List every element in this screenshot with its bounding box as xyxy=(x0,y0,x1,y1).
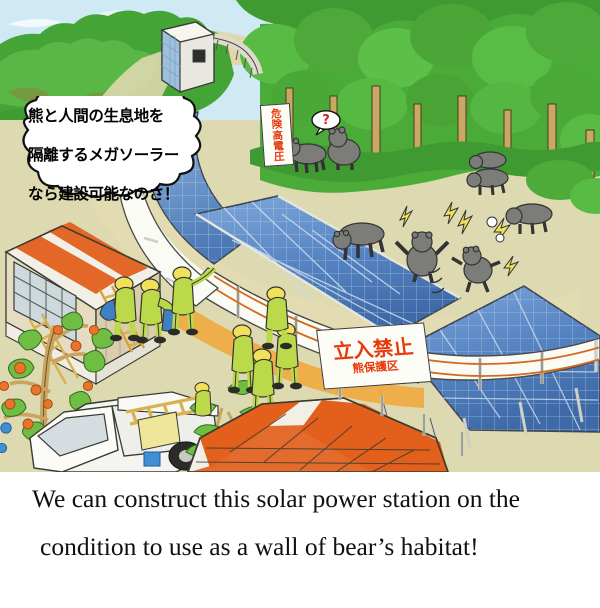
speech-line-2: 隔離するメガソーラー xyxy=(28,147,208,163)
bear-question-bubble: ? xyxy=(311,110,341,136)
high-voltage-sign-face: 危険 高電圧 xyxy=(260,103,294,167)
no-entry-sign-sub-text: 熊保護区 xyxy=(352,361,399,376)
cartoon-page: 熊と人間の生息地を 隔離するメガソーラー なら建設可能なのさ！ ? 立入禁止 熊… xyxy=(0,0,600,608)
caption-line-1: We can construct this solar power statio… xyxy=(32,486,582,512)
right-dense-forest xyxy=(236,0,600,214)
cartoon-illustration: 熊と人間の生息地を 隔離するメガソーラー なら建設可能なのさ！ ? 立入禁止 熊… xyxy=(0,0,600,472)
english-caption: We can construct this solar power statio… xyxy=(0,472,600,608)
speech-line-3: なら建設可能なのさ！ xyxy=(28,186,208,202)
question-mark-text: ? xyxy=(311,110,341,131)
no-entry-sign-main-text: 立入禁止 xyxy=(332,337,415,362)
high-voltage-line-1: 危険 xyxy=(270,108,282,130)
speech-balloon-text: 熊と人間の生息地を 隔離するメガソーラー なら建設可能なのさ！ xyxy=(28,108,208,202)
high-voltage-sign: 危険 高電圧 xyxy=(260,103,294,167)
caption-line-2: condition to use as a wall of bear’s hab… xyxy=(40,534,582,560)
no-entry-sign-face: 立入禁止 熊保護区 xyxy=(316,322,432,389)
no-entry-sign: 立入禁止 熊保護区 xyxy=(316,322,432,389)
high-voltage-line-2: 高電圧 xyxy=(271,130,284,162)
worker-speech-balloon: 熊と人間の生息地を 隔離するメガソーラー なら建設可能なのさ！ xyxy=(12,96,220,212)
speech-line-1: 熊と人間の生息地を xyxy=(28,108,208,124)
